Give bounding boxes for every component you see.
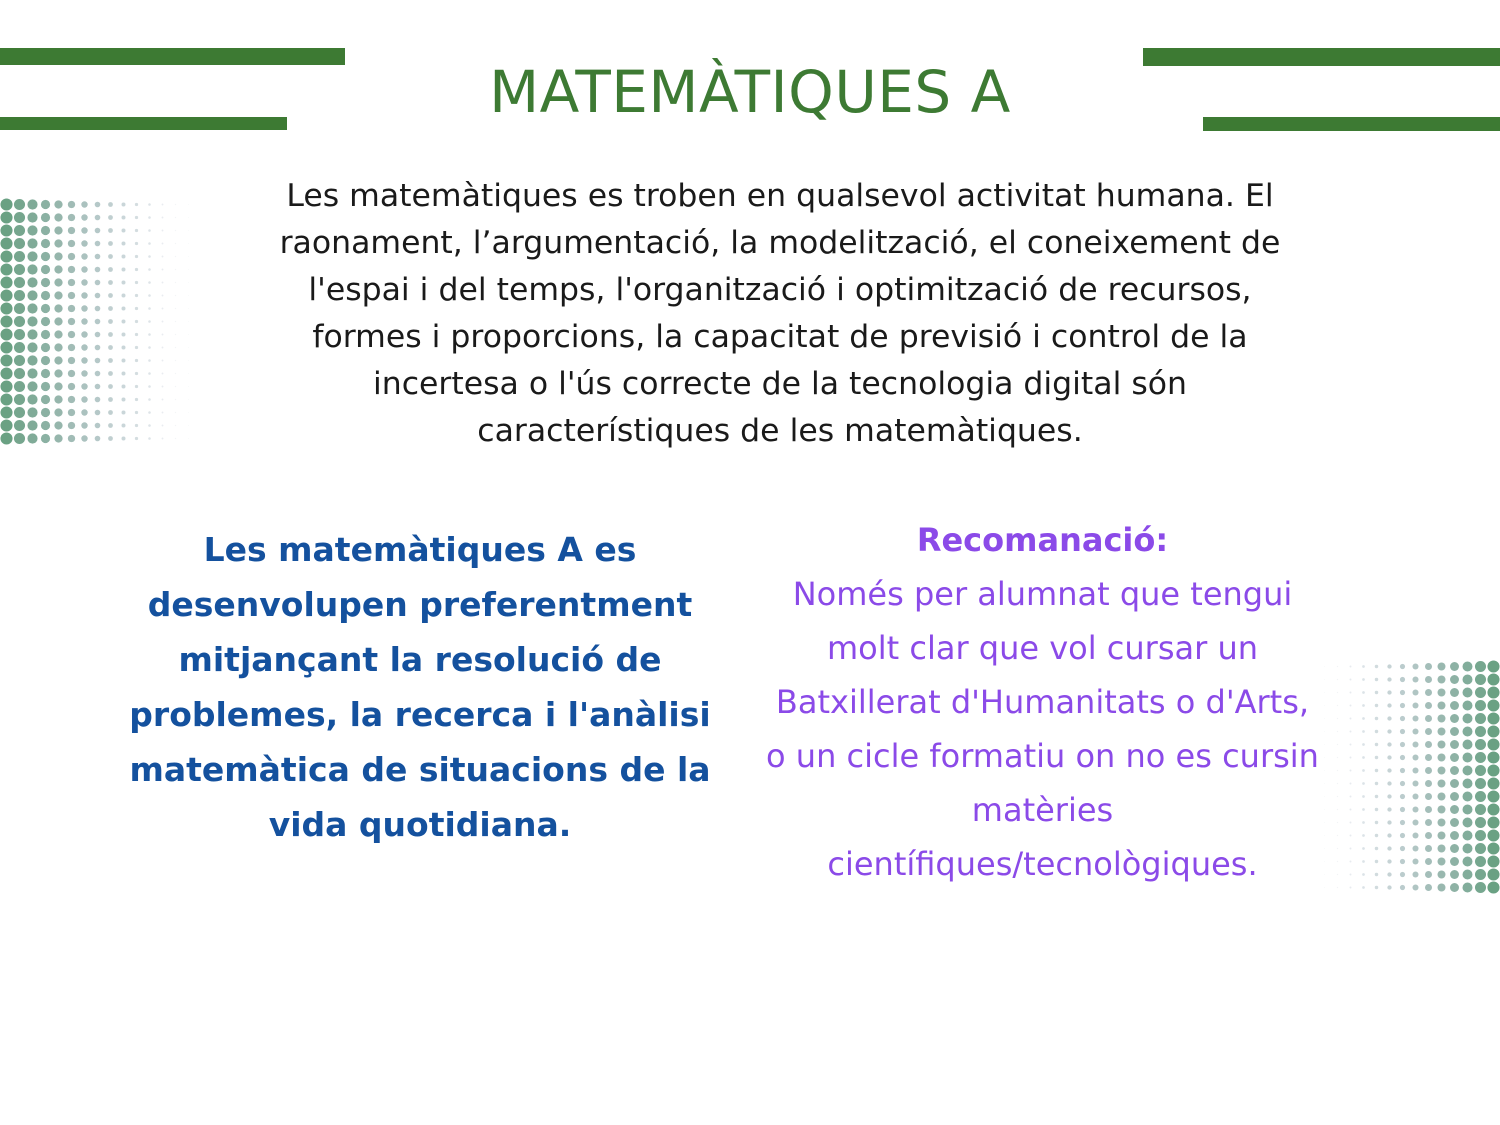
- recommendation-text: Només per alumnat que tengui molt clar q…: [765, 567, 1320, 891]
- intro-paragraph: Les matemàtiques es troben en qualsevol …: [250, 173, 1310, 455]
- slide-canvas: MATEMÀTIQUES A Les matemàtiques es trobe…: [0, 0, 1500, 1125]
- halftone-dots-left: [0, 198, 205, 448]
- left-column-blue-text: Les matemàtiques A es desenvolupen prefe…: [85, 522, 755, 852]
- halftone-dots-right: [1318, 660, 1500, 900]
- recommendation-heading: Recomanació:: [765, 513, 1320, 567]
- right-column-purple: Recomanació: Només per alumnat que tengu…: [765, 513, 1320, 891]
- page-title: MATEMÀTIQUES A: [0, 58, 1500, 126]
